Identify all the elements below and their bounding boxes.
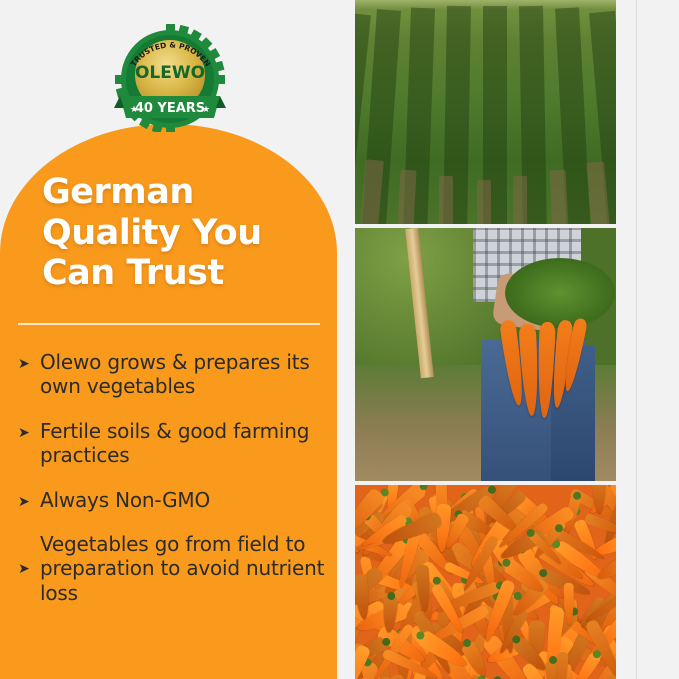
panel-content: German Quality You Can Trust ➤ Olewo gro… <box>0 124 337 679</box>
photo-harvested-carrot-pile <box>355 485 616 679</box>
trust-badge: TRUSTED & PROVEN OLEWO 40 YEARS ★ ★ <box>108 22 233 132</box>
photo-carrot-field-rows <box>355 0 616 224</box>
list-item-label: Always Non-GMO <box>40 488 210 512</box>
list-item-label: Olewo grows & prepares its own vegetable… <box>40 350 328 399</box>
arrow-icon: ➤ <box>18 350 40 371</box>
photo-column <box>355 0 616 679</box>
page-title: German Quality You Can Trust <box>42 172 327 294</box>
list-item: ➤ Olewo grows & prepares its own vegetab… <box>18 350 328 399</box>
list-item-label: Vegetables go from field to preparation … <box>40 532 328 605</box>
list-item-label: Fertile soils & good farming practices <box>40 419 328 468</box>
bullet-list: ➤ Olewo grows & prepares its own vegetab… <box>18 350 328 625</box>
star-icon-left: ★ <box>130 105 138 115</box>
headline-line-1: German <box>42 172 327 213</box>
list-item: ➤ Always Non-GMO <box>18 488 328 512</box>
arrow-icon: ➤ <box>18 488 40 509</box>
divider <box>18 323 320 325</box>
right-edge-divider <box>636 0 637 679</box>
headline-line-2: Quality You <box>42 213 327 254</box>
photo-hand-holding-carrots <box>355 228 616 481</box>
headline-line-3: Can Trust <box>42 253 327 294</box>
infographic-page: German Quality You Can Trust ➤ Olewo gro… <box>0 0 679 679</box>
list-item: ➤ Fertile soils & good farming practices <box>18 419 328 468</box>
star-icon-right: ★ <box>202 105 210 115</box>
arrow-icon: ➤ <box>18 532 40 576</box>
arrow-icon: ➤ <box>18 419 40 440</box>
list-item: ➤ Vegetables go from field to preparatio… <box>18 532 328 605</box>
